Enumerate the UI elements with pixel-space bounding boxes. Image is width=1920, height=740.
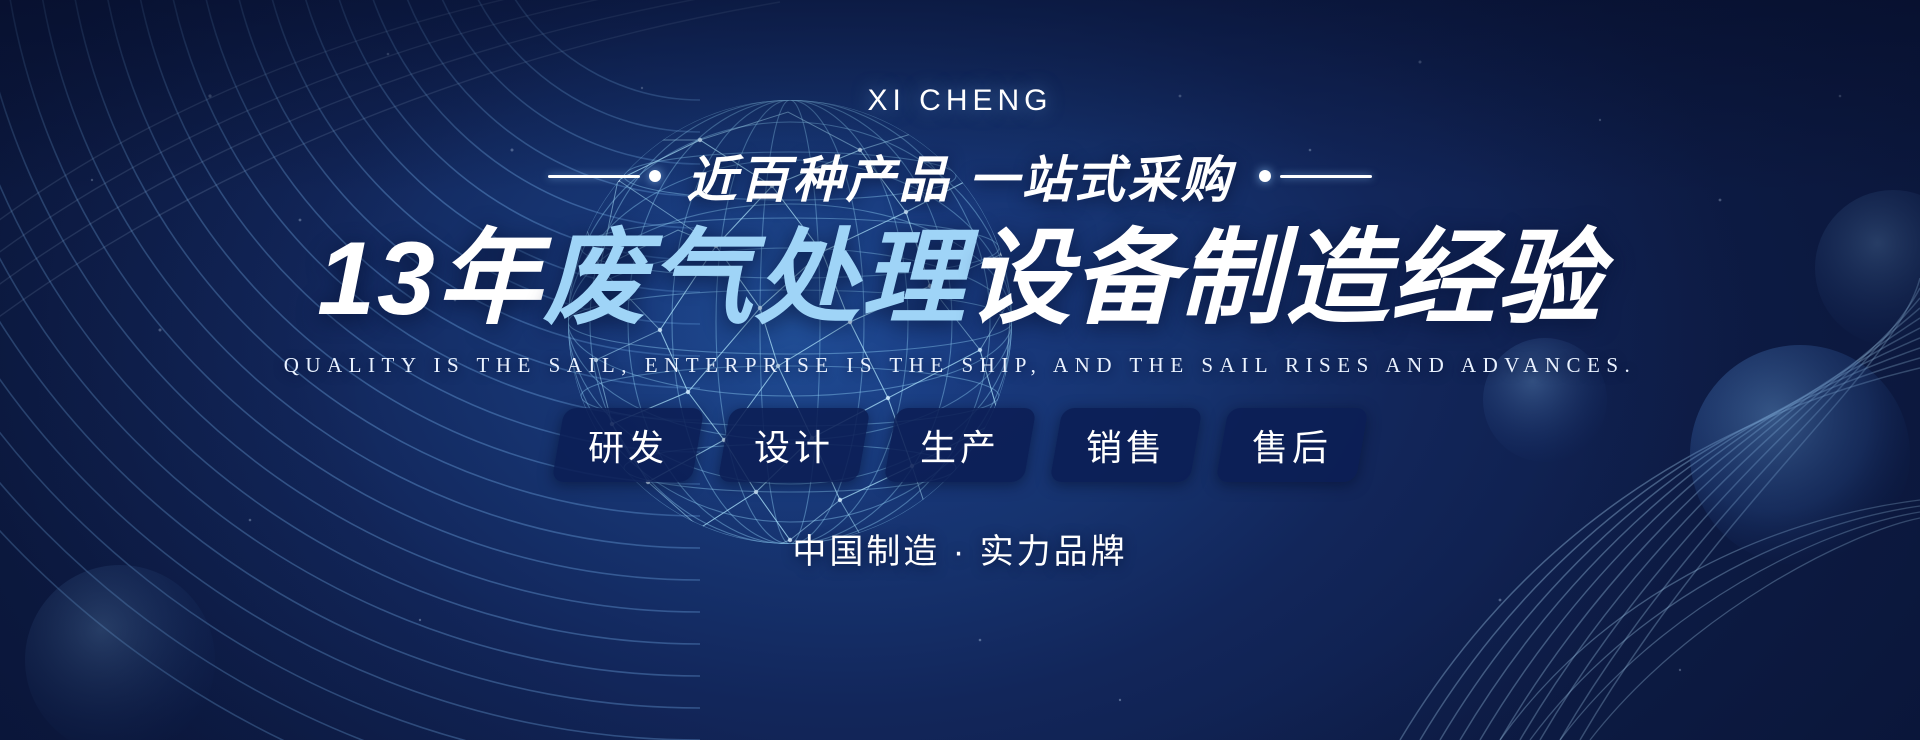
ornament-right — [1259, 170, 1372, 182]
banner-content: XI CHENG 近百种产品 一站式采购 13年废气处理设备制造经验 QUALI… — [0, 0, 1920, 740]
ornament-dot-icon — [649, 170, 661, 182]
hero-banner: XI CHENG 近百种产品 一站式采购 13年废气处理设备制造经验 QUALI… — [0, 0, 1920, 740]
service-pill-label: 研发 — [588, 419, 668, 471]
ornament-line-icon — [1280, 175, 1372, 178]
brand-latin-name: XI CHENG — [867, 84, 1052, 118]
service-pill-list: 研发 设计 生产 销售 售后 — [558, 408, 1362, 482]
headline-suffix: 设备制造经验 — [967, 221, 1603, 337]
service-pill-shouhou[interactable]: 售后 — [1215, 408, 1368, 482]
tagline-text: 近百种产品 一站式采购 — [687, 140, 1234, 212]
headline-prefix: 13年 — [317, 221, 543, 337]
service-pill-yanfa[interactable]: 研发 — [551, 408, 704, 482]
ornament-line-icon — [548, 175, 640, 178]
service-pill-label: 售后 — [1252, 419, 1332, 471]
english-subline: QUALITY IS THE SAIL, ENTERPRISE IS THE S… — [284, 353, 1637, 378]
service-pill-label: 设计 — [754, 419, 834, 471]
service-pill-xiaoshou[interactable]: 销售 — [1049, 408, 1202, 482]
headline: 13年废气处理设备制造经验 — [317, 218, 1603, 341]
service-pill-shengchan[interactable]: 生产 — [883, 408, 1036, 482]
ornament-dot-icon — [1259, 170, 1271, 182]
tagline-row: 近百种产品 一站式采购 — [548, 140, 1373, 212]
footer-slogan: 中国制造 · 实力品牌 — [792, 524, 1127, 573]
service-pill-sheji[interactable]: 设计 — [717, 408, 870, 482]
service-pill-label: 生产 — [920, 419, 1000, 471]
service-pill-label: 销售 — [1086, 419, 1166, 471]
headline-highlight: 废气处理 — [543, 221, 967, 337]
ornament-left — [548, 170, 661, 182]
